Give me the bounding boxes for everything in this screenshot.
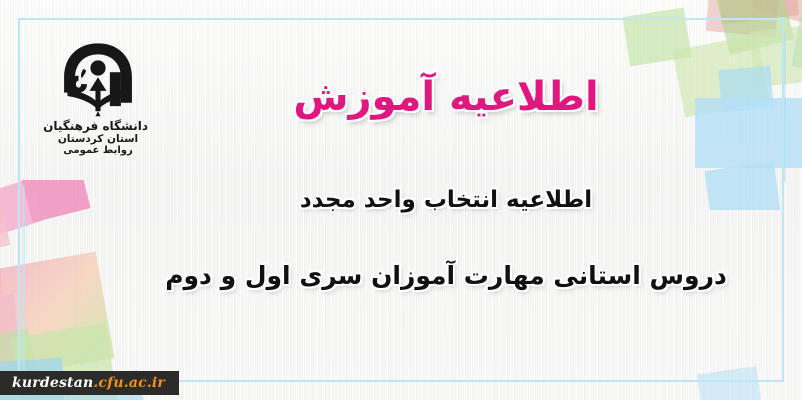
url-domain: kurdestan [12, 375, 93, 391]
url-tld: .cfu.ac.ir [93, 375, 165, 391]
announcement-content: اطلاعیه آموزش اطلاعیه انتخاب واحد مجدد د… [150, 72, 742, 293]
logo-text-line-2: استان کردستان [48, 134, 148, 145]
subtitle-line-2: دروس استانی مهارت آموزان سری اول و دوم [150, 258, 742, 293]
headline-title: اطلاعیه آموزش [150, 72, 742, 122]
website-url-ribbon: kurdestan.cfu.ac.ir [0, 371, 179, 395]
university-logo: دانشگاه فرهنگیان استان کردستان روابط عمو… [48, 40, 148, 156]
logo-text-line-3: روابط عمومی [48, 146, 148, 157]
logo-text-line-1: دانشگاه فرهنگیان [48, 120, 148, 133]
announcement-banner: دانشگاه فرهنگیان استان کردستان روابط عمو… [0, 0, 802, 400]
subtitle-line-1: اطلاعیه انتخاب واحد مجدد [150, 184, 742, 216]
farhangian-university-emblem-icon [55, 40, 141, 118]
